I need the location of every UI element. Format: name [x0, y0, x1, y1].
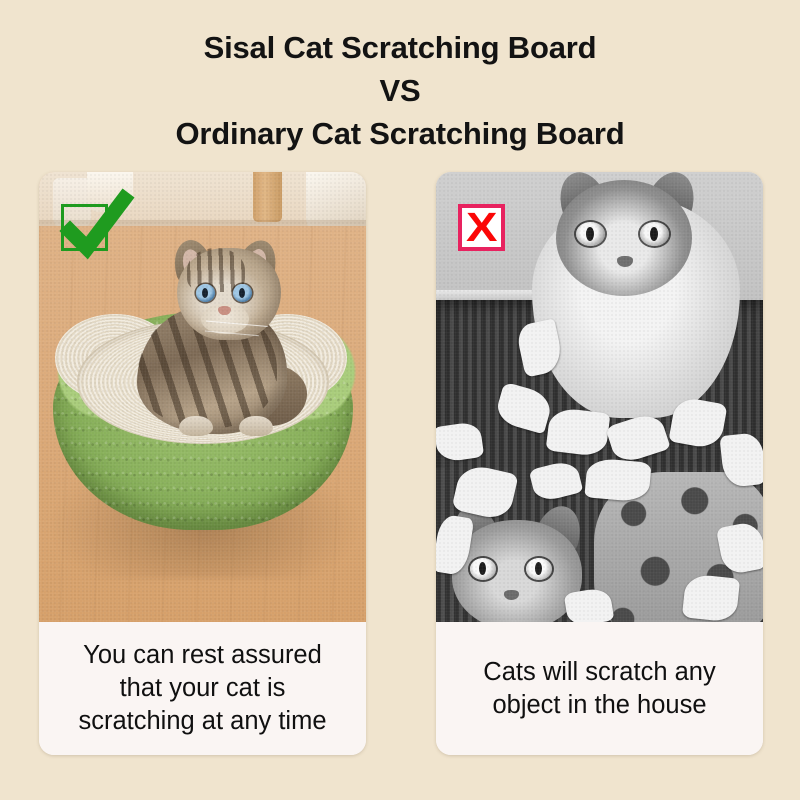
- fluffy-cat-eye-left: [576, 222, 605, 246]
- title-line-comparison: Ordinary Cat Scratching Board: [0, 112, 800, 155]
- caption-box-left: You can rest assured that your cat is sc…: [39, 622, 366, 755]
- fluffy-cat-pupil-left: [586, 227, 594, 241]
- kitten-eye-right: [233, 284, 252, 302]
- product-photo-good: [39, 172, 366, 622]
- tabby-cat-eye-left: [470, 558, 496, 580]
- table-leg: [253, 172, 282, 222]
- caption-right-line-1: Cats will scratch any: [483, 656, 715, 689]
- caption-text-left: You can rest assured that your cat is sc…: [70, 639, 334, 738]
- kitten-paw-right: [239, 416, 273, 436]
- kitten-paw-left: [179, 416, 213, 436]
- cross-mark-badge: X: [458, 204, 505, 251]
- fluffy-cat-eye-right: [640, 222, 669, 246]
- caption-text-right: Cats will scratch any object in the hous…: [475, 656, 723, 722]
- tabby-cat-pupil-right: [535, 562, 542, 575]
- comparison-card-left: You can rest assured that your cat is sc…: [39, 172, 366, 755]
- tabby-cat-pupil-left: [479, 562, 486, 575]
- caption-left-line-1: You can rest assured: [78, 639, 326, 672]
- check-mark-badge: [61, 204, 108, 251]
- tabby-cat-eye-right: [526, 558, 552, 580]
- title-line-product: Sisal Cat Scratching Board: [0, 26, 800, 69]
- title-line-vs: VS: [0, 69, 800, 112]
- product-photo-bad: X: [436, 172, 763, 622]
- caption-right-line-2: object in the house: [483, 689, 715, 722]
- kitten-pupil-left: [202, 288, 208, 298]
- comparison-card-right: X Cats will scratch any object in the ho…: [436, 172, 763, 755]
- paper-shred: [546, 407, 611, 458]
- caption-left-line-3: scratching at any time: [78, 705, 326, 738]
- cross-mark-icon: X: [466, 208, 497, 247]
- fluffy-cat-pupil-right: [650, 227, 658, 241]
- kitten-eye-left: [196, 284, 215, 302]
- check-mark-icon: [60, 191, 132, 263]
- page-title: Sisal Cat Scratching Board VS Ordinary C…: [0, 26, 800, 155]
- kitten-illustration: [135, 234, 307, 434]
- caption-box-right: Cats will scratch any object in the hous…: [436, 622, 763, 755]
- kitten-pupil-right: [239, 288, 245, 298]
- caption-left-line-2: that your cat is: [78, 672, 326, 705]
- paper-shred: [682, 573, 740, 622]
